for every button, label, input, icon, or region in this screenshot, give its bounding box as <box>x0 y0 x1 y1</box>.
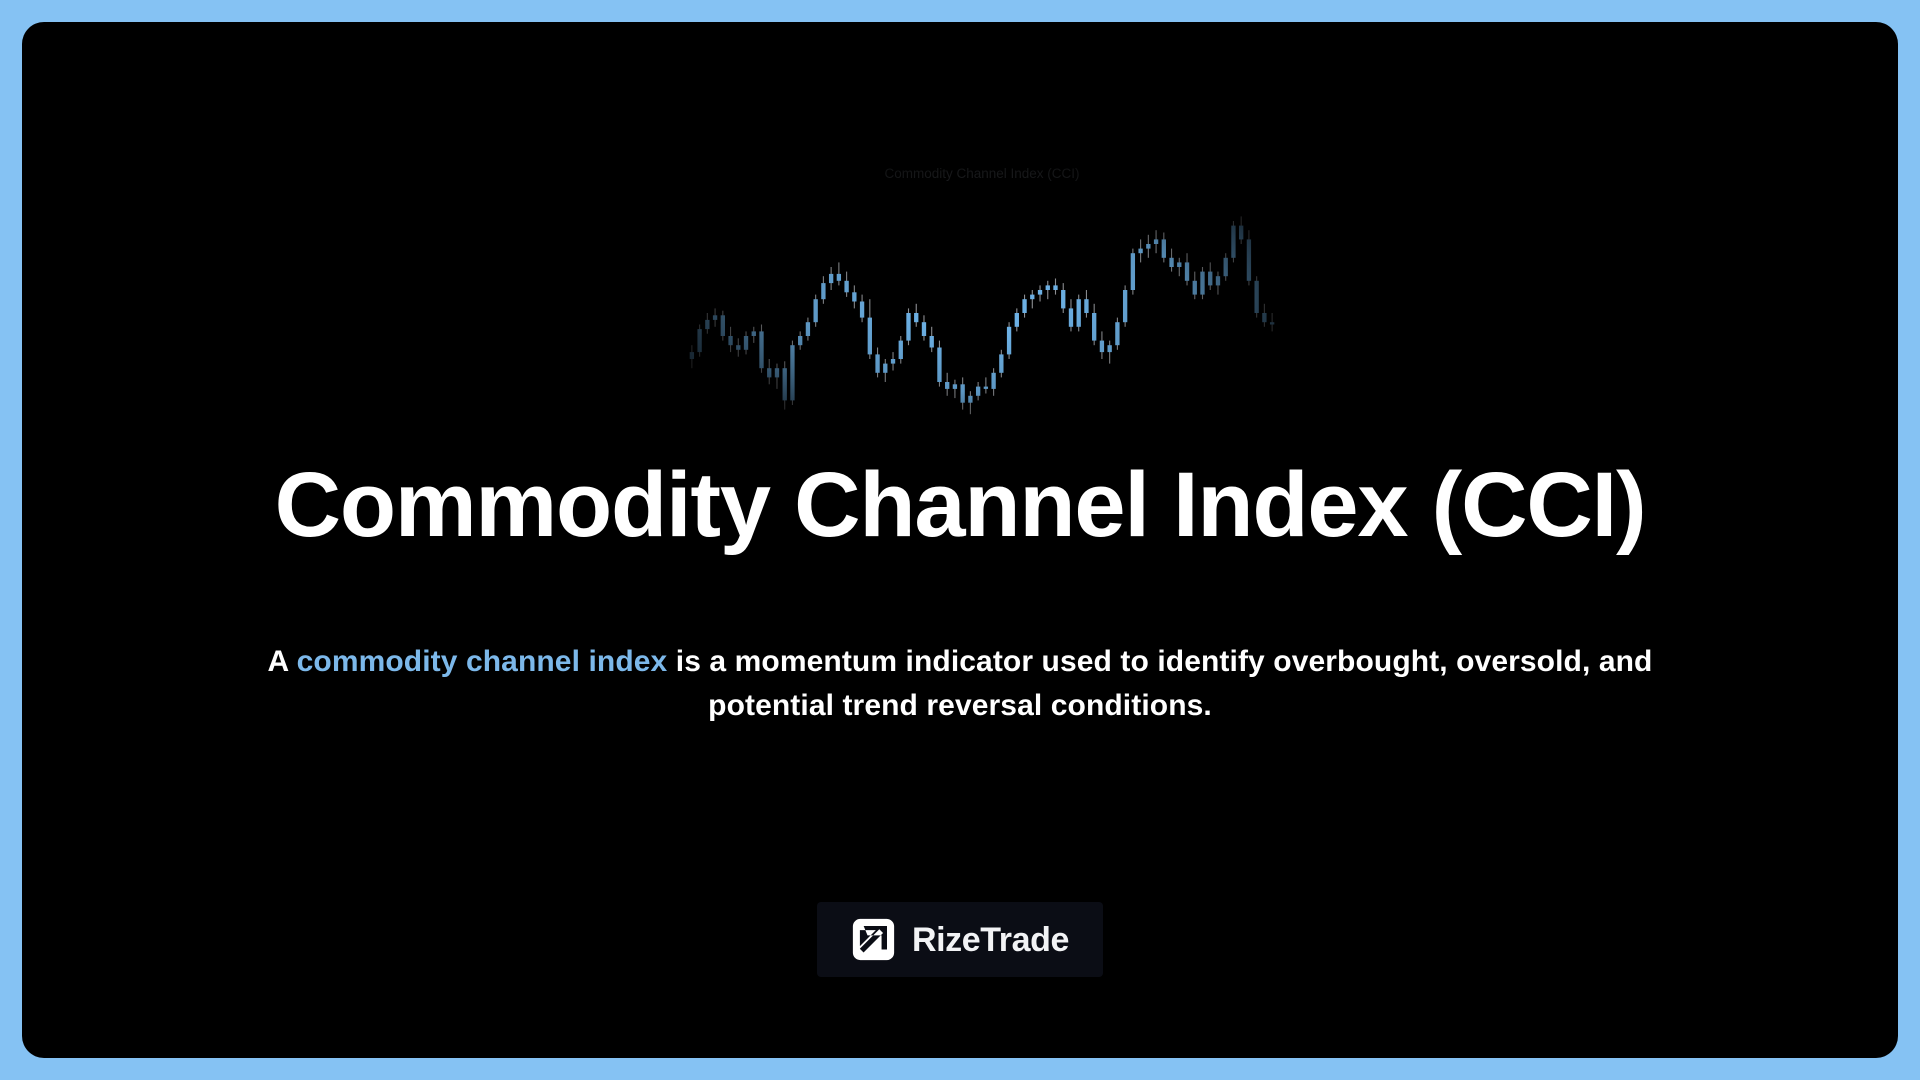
candle-body <box>1046 285 1050 290</box>
candle-body <box>1239 226 1243 240</box>
candle-body <box>1092 313 1096 341</box>
subtitle-lead: A <box>268 645 297 678</box>
candle-body <box>829 274 833 283</box>
candle-body <box>1193 281 1197 295</box>
candle-body <box>1131 253 1135 290</box>
candle-body <box>860 302 864 318</box>
candle-body <box>1084 299 1088 313</box>
candle-body <box>1247 239 1251 280</box>
candle-body <box>1038 290 1042 295</box>
candle-body <box>736 345 740 350</box>
candle-body <box>767 368 771 377</box>
candle-body <box>837 274 841 281</box>
candle-body <box>1270 322 1274 324</box>
diagonal-arrow-up-right-icon <box>851 917 896 962</box>
candle-body <box>875 354 879 372</box>
candle-body <box>744 336 748 350</box>
candle-body <box>1146 244 1150 249</box>
candle-body <box>976 387 980 396</box>
candle-body <box>728 336 732 345</box>
candle-body <box>991 373 995 389</box>
candle-body <box>1185 262 1189 280</box>
candle-body <box>1069 308 1073 326</box>
candle-body <box>1100 341 1104 353</box>
candle-body <box>1262 313 1266 322</box>
candles-group <box>690 216 1275 414</box>
candle-body <box>1224 258 1228 276</box>
candle-body <box>937 348 941 383</box>
candle-body <box>984 387 988 389</box>
slide-subtitle: A commodity channel index is a momentum … <box>260 640 1660 729</box>
candle-body <box>1216 276 1220 285</box>
candle-body <box>945 382 949 389</box>
candle-body <box>1200 272 1204 295</box>
candle-body <box>1061 290 1065 308</box>
candle-body <box>1053 285 1057 290</box>
candle-body <box>705 320 709 329</box>
candle-body <box>1007 327 1011 355</box>
candle-body <box>960 384 964 402</box>
candle-body <box>1208 272 1212 286</box>
candle-body <box>852 292 856 301</box>
candle-body <box>759 331 763 368</box>
candlestick-chart-svg: Commodity Channel Index (CCI) <box>662 142 1302 442</box>
candle-body <box>953 384 957 389</box>
subtitle-accent-term: commodity channel index <box>297 645 668 678</box>
candle-body <box>1162 239 1166 257</box>
subtitle-tail: is a momentum indicator used to identify… <box>667 645 1652 722</box>
candle-body <box>922 322 926 336</box>
candle-body <box>1107 345 1111 352</box>
candle-body <box>906 313 910 341</box>
page-title: Commodity Channel Index (CCI) <box>22 456 1898 555</box>
candle-body <box>713 315 717 320</box>
candle-body <box>813 299 817 322</box>
candle-body <box>1015 313 1019 327</box>
candle-body <box>1138 249 1142 254</box>
candle-body <box>891 359 895 364</box>
candle-body <box>968 396 972 403</box>
candle-body <box>697 329 701 352</box>
candle-body <box>721 315 725 336</box>
candle-body <box>999 354 1003 372</box>
brand-logo[interactable]: RizeTrade <box>817 902 1103 977</box>
candle-body <box>1254 281 1258 313</box>
candlestick-chart-backdrop: Commodity Channel Index (CCI) <box>662 142 1302 442</box>
candle-body <box>868 318 872 355</box>
candle-body <box>883 364 887 373</box>
candle-body <box>1077 299 1081 327</box>
candle-body <box>1169 258 1173 267</box>
candle-body <box>783 368 787 400</box>
candle-body <box>752 331 756 336</box>
candle-body <box>690 352 694 359</box>
candle-body <box>1231 226 1235 258</box>
candle-body <box>806 322 810 336</box>
candle-body <box>1123 290 1127 322</box>
candle-body <box>914 313 918 322</box>
chart-inner-title: Commodity Channel Index (CCI) <box>884 166 1079 181</box>
candle-body <box>1115 322 1119 345</box>
candle-body <box>798 336 802 345</box>
candle-body <box>1177 262 1181 267</box>
slide-panel: Commodity Channel Index (CCI) Commodity … <box>22 22 1898 1058</box>
candle-body <box>899 341 903 359</box>
brand-name: RizeTrade <box>912 923 1069 957</box>
candle-body <box>1022 299 1026 313</box>
candle-body <box>1154 239 1158 244</box>
candle-body <box>790 345 794 400</box>
candle-body <box>930 336 934 348</box>
candle-body <box>775 368 779 377</box>
candle-body <box>844 281 848 293</box>
candle-body <box>1030 295 1034 300</box>
candle-body <box>821 283 825 299</box>
slide-frame: Commodity Channel Index (CCI) Commodity … <box>0 0 1920 1080</box>
